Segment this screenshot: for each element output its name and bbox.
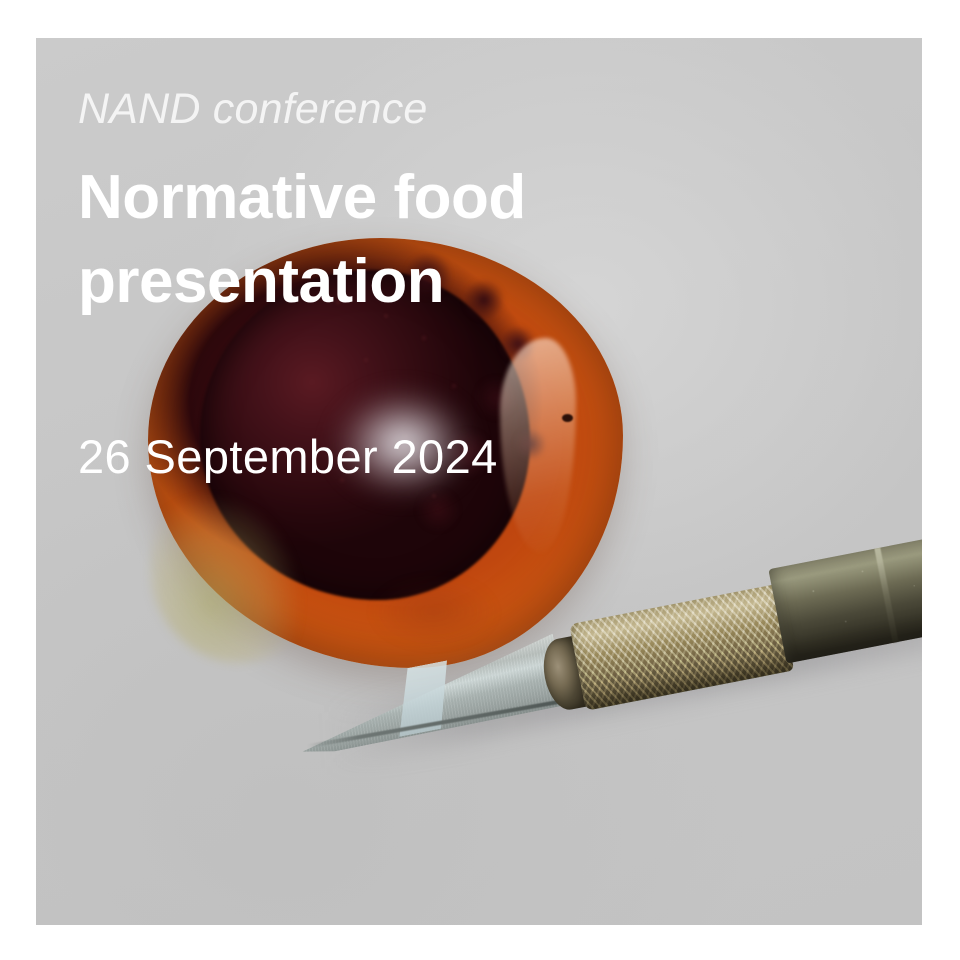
- poster-headline: Normative food presentation: [78, 167, 698, 313]
- poster-photo-canvas: NAND conference Normative food presentat…: [36, 38, 922, 925]
- poster-frame: NAND conference Normative food presentat…: [0, 0, 960, 960]
- event-date: 26 September 2024: [78, 433, 698, 480]
- headline-line-2: presentation: [78, 251, 698, 313]
- knife-knurl-texture: [569, 584, 794, 711]
- conference-eyebrow: NAND conference: [78, 88, 698, 131]
- headline-line-1: Normative food: [78, 167, 698, 229]
- poster-text-block: NAND conference Normative food presentat…: [78, 88, 698, 480]
